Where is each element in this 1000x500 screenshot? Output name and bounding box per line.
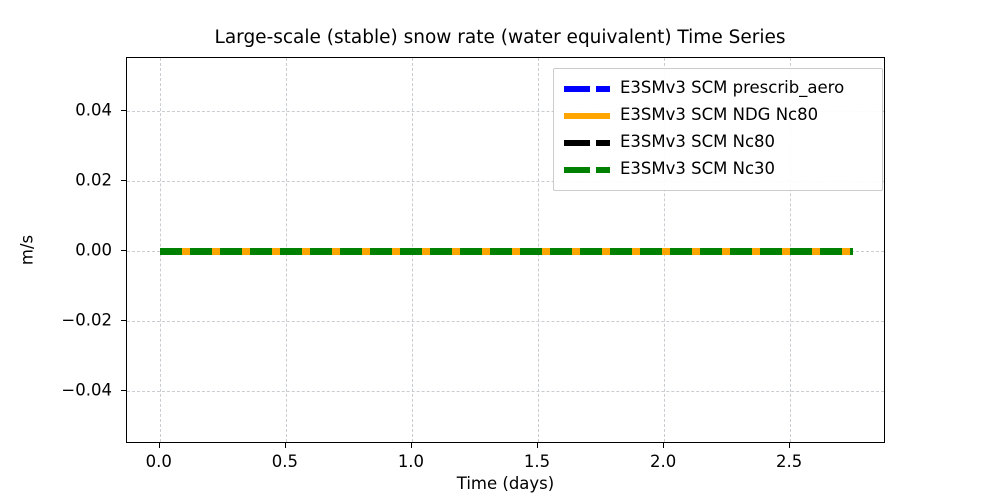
y-axis-label: m/s <box>18 235 37 265</box>
x-tick-label: 0.5 <box>272 452 298 471</box>
legend[interactable]: E3SMv3 SCM prescrib_aeroE3SMv3 SCM NDG N… <box>553 68 883 191</box>
legend-item[interactable]: E3SMv3 SCM prescrib_aero <box>564 75 872 102</box>
x-tick-label: 2.5 <box>776 452 802 471</box>
legend-item-label: E3SMv3 SCM Nc80 <box>620 134 775 151</box>
legend-color-swatch <box>564 136 610 150</box>
legend-color-swatch <box>564 82 610 96</box>
legend-item-label: E3SMv3 SCM NDG Nc80 <box>620 107 818 124</box>
chart-figure: Large-scale (stable) snow rate (water eq… <box>0 0 1000 500</box>
legend-color-swatch <box>564 163 610 177</box>
legend-item-label: E3SMv3 SCM prescrib_aero <box>620 80 844 97</box>
x-tick-label: 2.0 <box>650 452 676 471</box>
x-tick-mark <box>663 443 664 448</box>
x-axis-label: Time (days) <box>126 474 885 493</box>
data-series-line <box>160 248 853 255</box>
legend-color-swatch <box>564 109 610 123</box>
y-tick-label: 0.04 <box>75 100 112 119</box>
y-tick-label: 0.00 <box>75 241 112 260</box>
legend-item-label: E3SMv3 SCM Nc30 <box>620 161 775 178</box>
x-tick-mark <box>537 443 538 448</box>
y-tick-label: 0.02 <box>75 170 112 189</box>
x-tick-label: 0.0 <box>146 452 172 471</box>
legend-item[interactable]: E3SMv3 SCM NDG Nc80 <box>564 102 872 129</box>
x-tick-label: 1.5 <box>524 452 550 471</box>
y-tick-label: −0.02 <box>61 311 112 330</box>
x-tick-label: 1.0 <box>398 452 424 471</box>
legend-item[interactable]: E3SMv3 SCM Nc80 <box>564 129 872 156</box>
x-tick-mark <box>789 443 790 448</box>
x-tick-mark <box>285 443 286 448</box>
legend-item[interactable]: E3SMv3 SCM Nc30 <box>564 156 872 183</box>
x-tick-mark <box>159 443 160 448</box>
chart-title: Large-scale (stable) snow rate (water eq… <box>0 27 1000 48</box>
y-tick-label: −0.04 <box>61 381 112 400</box>
x-tick-mark <box>411 443 412 448</box>
